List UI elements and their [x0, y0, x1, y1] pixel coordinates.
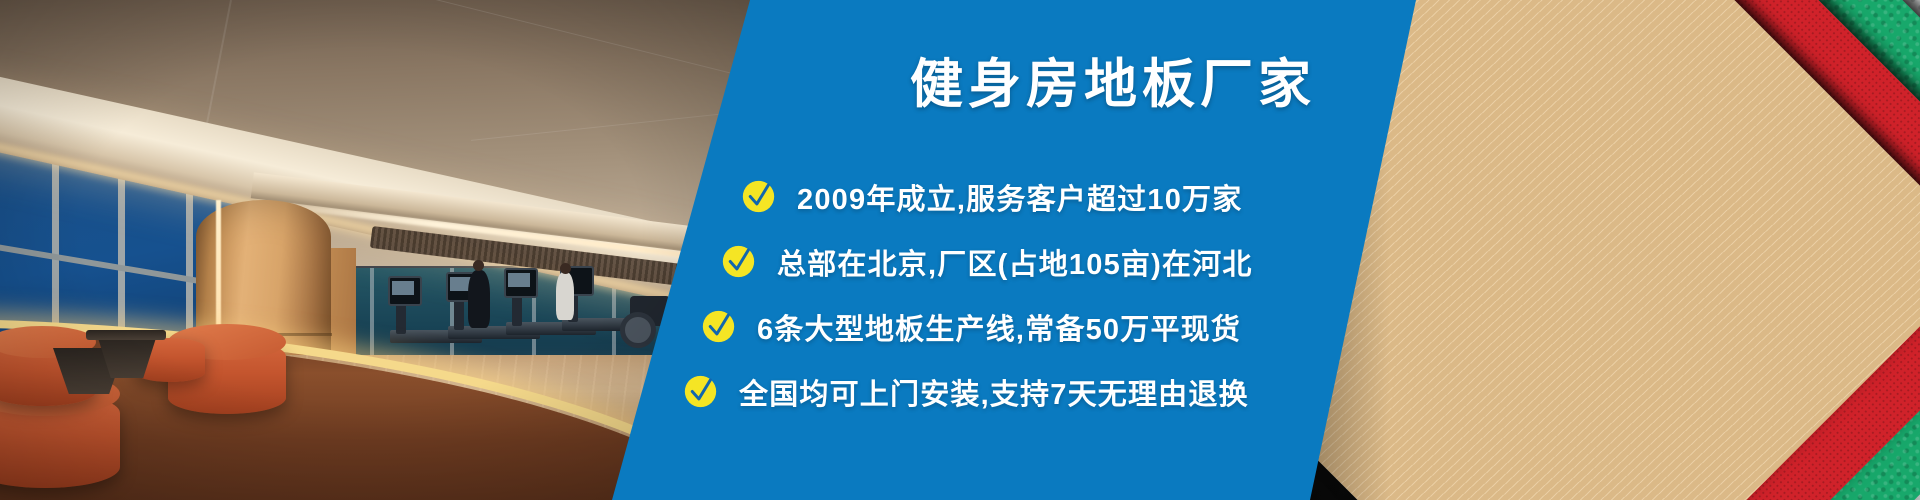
list-item: 总部在北京,厂区(占地105亩)在河北 — [0, 229, 1920, 294]
list-item-label: 2009年成立,服务客户超过10万家 — [797, 176, 1242, 218]
check-circle-icon — [684, 375, 717, 408]
list-item-label: 总部在北京,厂区(占地105亩)在河北 — [777, 241, 1253, 283]
promo-banner: 健身房地板厂家 2009年成立,服务客户超过10万家 总 — [0, 0, 1920, 500]
list-item: 6条大型地板生产线,常备50万平现货 — [0, 294, 1920, 359]
list-item-label: 全国均可上门安装,支持7天无理由退换 — [739, 371, 1249, 413]
list-item-label: 6条大型地板生产线,常备50万平现货 — [757, 306, 1241, 348]
check-circle-icon — [702, 310, 735, 343]
banner-content: 健身房地板厂家 2009年成立,服务客户超过10万家 总 — [0, 0, 1920, 500]
feature-list: 2009年成立,服务客户超过10万家 总部在北京,厂区(占地105亩)在河北 — [0, 164, 1920, 424]
page-title: 健身房地板厂家 — [833, 58, 1393, 111]
check-circle-icon — [722, 245, 755, 278]
list-item: 2009年成立,服务客户超过10万家 — [0, 164, 1920, 229]
list-item: 全国均可上门安装,支持7天无理由退换 — [0, 359, 1920, 424]
check-circle-icon — [742, 180, 775, 213]
